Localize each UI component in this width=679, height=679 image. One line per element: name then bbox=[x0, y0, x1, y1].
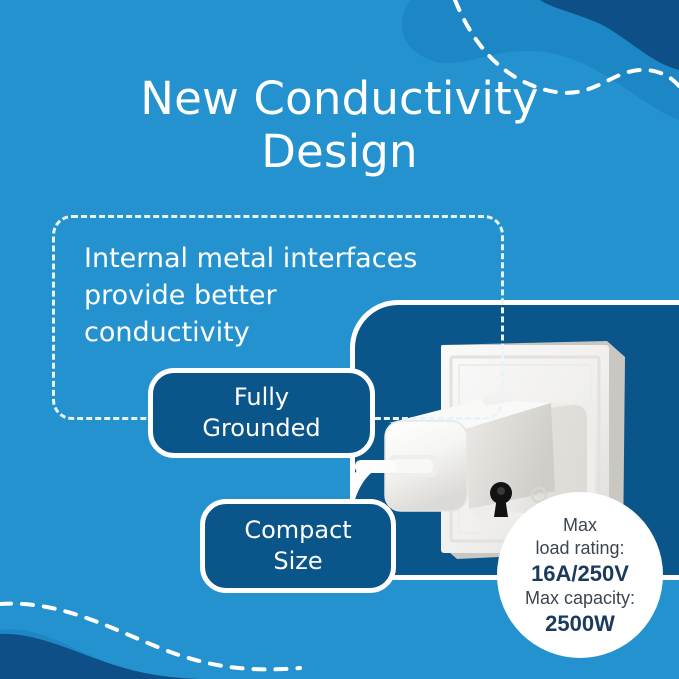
spec-load-label-2: load rating: bbox=[535, 537, 624, 560]
callout-line-3: conductivity bbox=[84, 314, 504, 351]
callout-text: Internal metal interfaces provide better… bbox=[84, 240, 504, 351]
infographic-canvas: New Conductivity Design Internal metal i… bbox=[0, 0, 679, 679]
badge-grounded-line-2: Grounded bbox=[202, 413, 320, 444]
page-title: New Conductivity Design bbox=[0, 72, 679, 178]
badge-compact-line-2: Size bbox=[244, 546, 351, 577]
spec-capacity-value: 2500W bbox=[545, 610, 615, 637]
badge-fully-grounded-label: Fully Grounded bbox=[202, 382, 320, 444]
badge-fully-grounded[interactable]: Fully Grounded bbox=[148, 368, 375, 458]
bottom-left-dashed-curve bbox=[0, 604, 300, 670]
title-line-2: Design bbox=[0, 125, 679, 178]
badge-compact-size[interactable]: Compact Size bbox=[200, 499, 396, 593]
bottom-left-dark-wave bbox=[0, 634, 280, 679]
spec-capacity-label: Max capacity: bbox=[525, 587, 635, 610]
bottom-left-mid-wave bbox=[0, 629, 260, 679]
spec-load-value: 16A/250V bbox=[531, 560, 629, 587]
callout-line-1: Internal metal interfaces bbox=[84, 240, 504, 277]
top-right-dark-wave bbox=[540, 0, 679, 70]
spec-badge-circle: Max load rating: 16A/250V Max capacity: … bbox=[497, 492, 663, 658]
badge-compact-size-label: Compact Size bbox=[244, 515, 351, 577]
badge-compact-line-1: Compact bbox=[244, 515, 351, 546]
spec-load-label-1: Max bbox=[563, 514, 597, 537]
title-line-1: New Conductivity bbox=[0, 72, 679, 125]
badge-grounded-line-1: Fully bbox=[202, 382, 320, 413]
socket-screw-inner bbox=[537, 493, 542, 498]
callout-line-2: provide better bbox=[84, 277, 504, 314]
